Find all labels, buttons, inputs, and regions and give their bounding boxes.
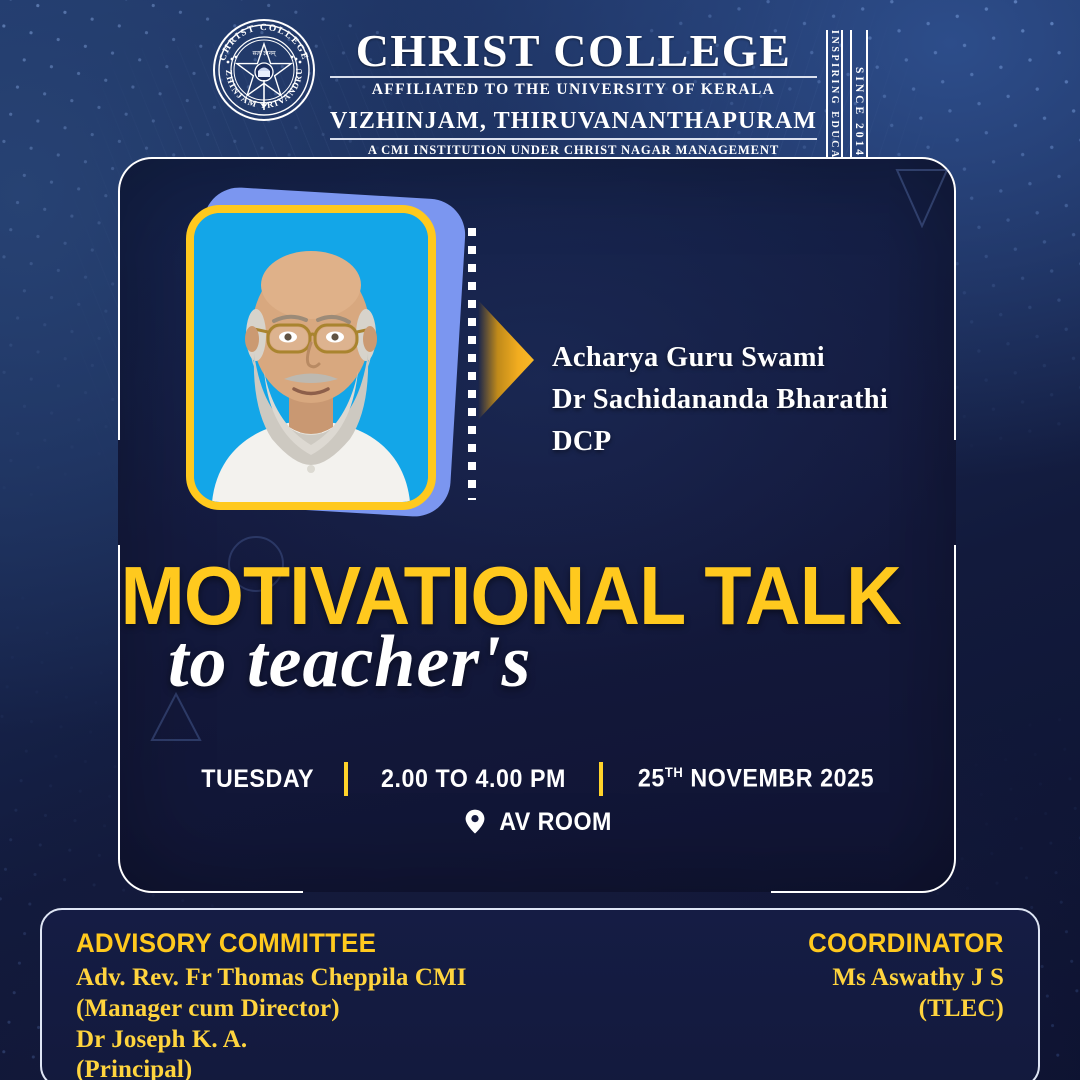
management-text: A CMI INSTITUTION UNDER CHRIST NAGAR MAN…	[368, 143, 779, 158]
advisory-line: (Manager cum Director)	[76, 994, 467, 1025]
poster-canvas: CHRIST COLLEGE VIZHINJAM TRIVANDRUM सत्य…	[0, 0, 1080, 1080]
event-date-number: 25	[638, 765, 665, 793]
event-meta-row: TUESDAY 2.00 TO 4.00 PM 25TH NOVEMBR 202…	[0, 762, 1080, 796]
svg-text:सत्यं ज्ञानम्: सत्यं ज्ञानम्	[252, 50, 276, 57]
college-name: CHRIST COLLEGE	[356, 28, 792, 73]
credits-panel: ADVISORY COMMITTEE Adv. Rev. Fr Thomas C…	[40, 908, 1040, 1080]
advisory-committee-heading: ADVISORY COMMITTEE	[76, 928, 451, 959]
location-pin-icon	[464, 809, 486, 837]
campus-location-text: VIZHINJAM, THIRUVANANTHAPURAM	[330, 108, 817, 135]
event-day: TUESDAY	[201, 765, 314, 794]
event-venue: AV ROOM	[499, 808, 612, 837]
speaker-portrait	[194, 213, 428, 502]
advisory-line: Adv. Rev. Fr Thomas Cheppila CMI	[76, 963, 467, 994]
speaker-name-line-2: Dr Sachidananda Bharathi DCP	[552, 379, 952, 463]
event-date: 25TH NOVEMBR 2025	[638, 764, 874, 793]
speaker-photo-block	[186, 193, 462, 523]
coordinator-block: COORDINATOR Ms Aswathy J S (TLEC)	[800, 928, 1004, 1025]
coordinator-line: (TLEC)	[800, 994, 1004, 1025]
advisory-line: (Principal)	[76, 1055, 467, 1080]
event-time: 2.00 TO 4.00 PM	[381, 765, 566, 794]
speaker-name-block: Acharya Guru Swami Dr Sachidananda Bhara…	[552, 337, 952, 463]
event-subtitle: to teacher's	[168, 625, 531, 699]
event-date-rest: NOVEMBR 2025	[684, 765, 875, 793]
event-venue-row: AV ROOM	[0, 808, 1080, 837]
speaker-name-line-1: Acharya Guru Swami	[552, 337, 952, 379]
photo-frame	[186, 205, 436, 510]
divider-rule-top	[330, 76, 817, 78]
meta-separator-1	[344, 762, 348, 796]
advisory-committee-block: ADVISORY COMMITTEE Adv. Rev. Fr Thomas C…	[76, 928, 467, 1080]
affiliation-text: AFFILIATED TO THE UNIVERSITY OF KERALA	[372, 81, 775, 99]
coordinator-line: Ms Aswathy J S	[800, 963, 1004, 994]
advisory-line: Dr Joseph K. A.	[76, 1025, 467, 1056]
meta-separator-2	[599, 762, 603, 796]
dotted-divider-line	[468, 228, 476, 500]
event-date-ordinal: TH	[665, 764, 683, 780]
christ-college-seal-icon: CHRIST COLLEGE VIZHINJAM TRIVANDRUM सत्य…	[212, 18, 316, 122]
divider-rule-bottom	[330, 138, 817, 140]
coordinator-heading: COORDINATOR	[808, 928, 1004, 959]
